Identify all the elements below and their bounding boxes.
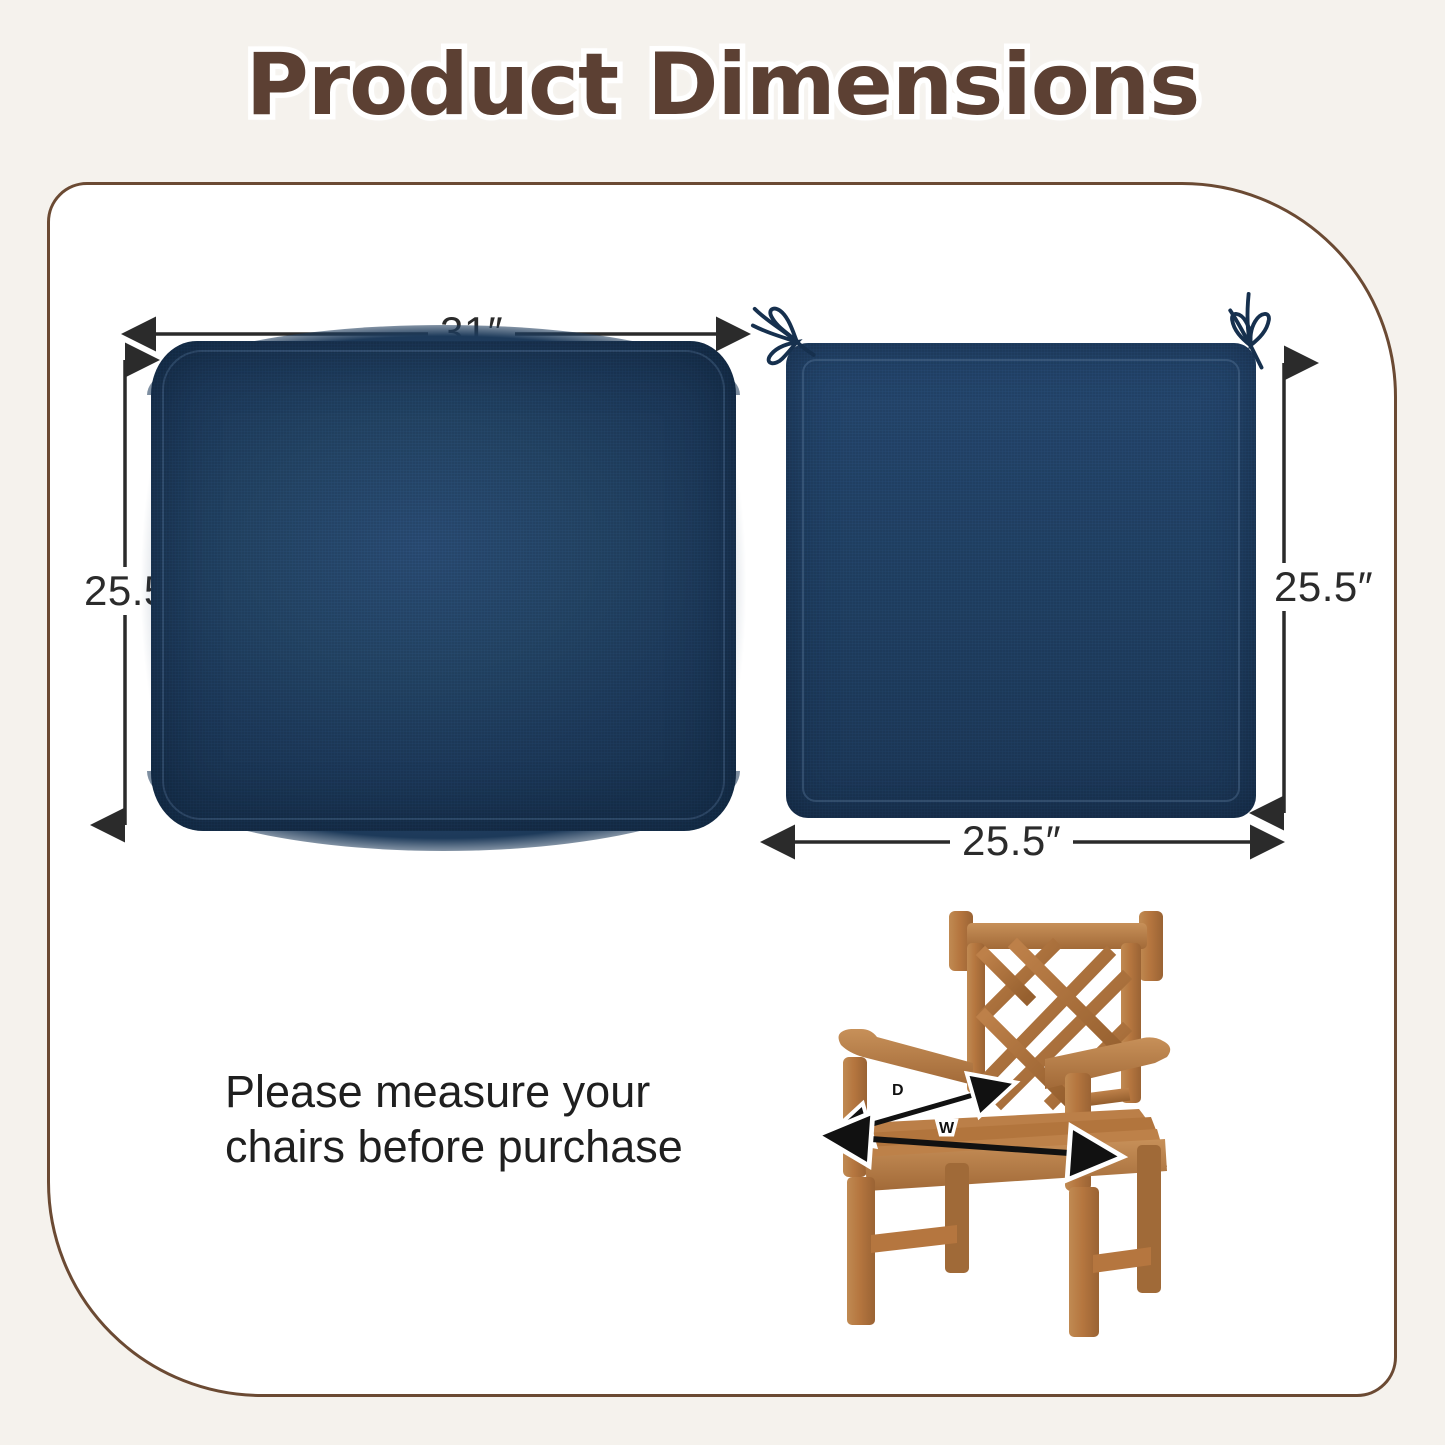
seat-fabric-texture <box>786 343 1256 818</box>
bow-tie-left-icon <box>740 285 832 377</box>
content-card: 31″ 25.5″ 25.5″ 25.5″ <box>47 182 1397 1397</box>
measure-note: Please measure your chairs before purcha… <box>225 1065 785 1175</box>
page-title: Product Dimensions <box>246 35 1200 135</box>
chair-width-label: W <box>939 1120 954 1138</box>
chair-depth-label: D <box>892 1082 904 1100</box>
seat-width-label: 25.5″ <box>950 817 1073 865</box>
pillow-fabric-texture <box>151 341 736 831</box>
back-pillow <box>151 341 736 831</box>
bow-tie-right-icon <box>1210 281 1302 373</box>
seat-height-label: 25.5″ <box>1262 563 1385 611</box>
note-line-1: Please measure your <box>225 1066 650 1117</box>
chair-stretcher-left <box>871 1225 957 1253</box>
chair-leg-back-right <box>1137 1145 1161 1293</box>
seat-cushion <box>786 343 1256 818</box>
chair-leg-back-left <box>945 1163 969 1273</box>
chair-leg-front-left <box>847 1177 875 1325</box>
wooden-armchair-illustration <box>821 895 1221 1345</box>
seat-face <box>786 343 1256 818</box>
chair-arm-support-left <box>843 1057 867 1177</box>
pillow-face <box>151 341 736 831</box>
title-bar: Product Dimensions <box>0 0 1445 170</box>
note-line-2: chairs before purchase <box>225 1120 785 1175</box>
